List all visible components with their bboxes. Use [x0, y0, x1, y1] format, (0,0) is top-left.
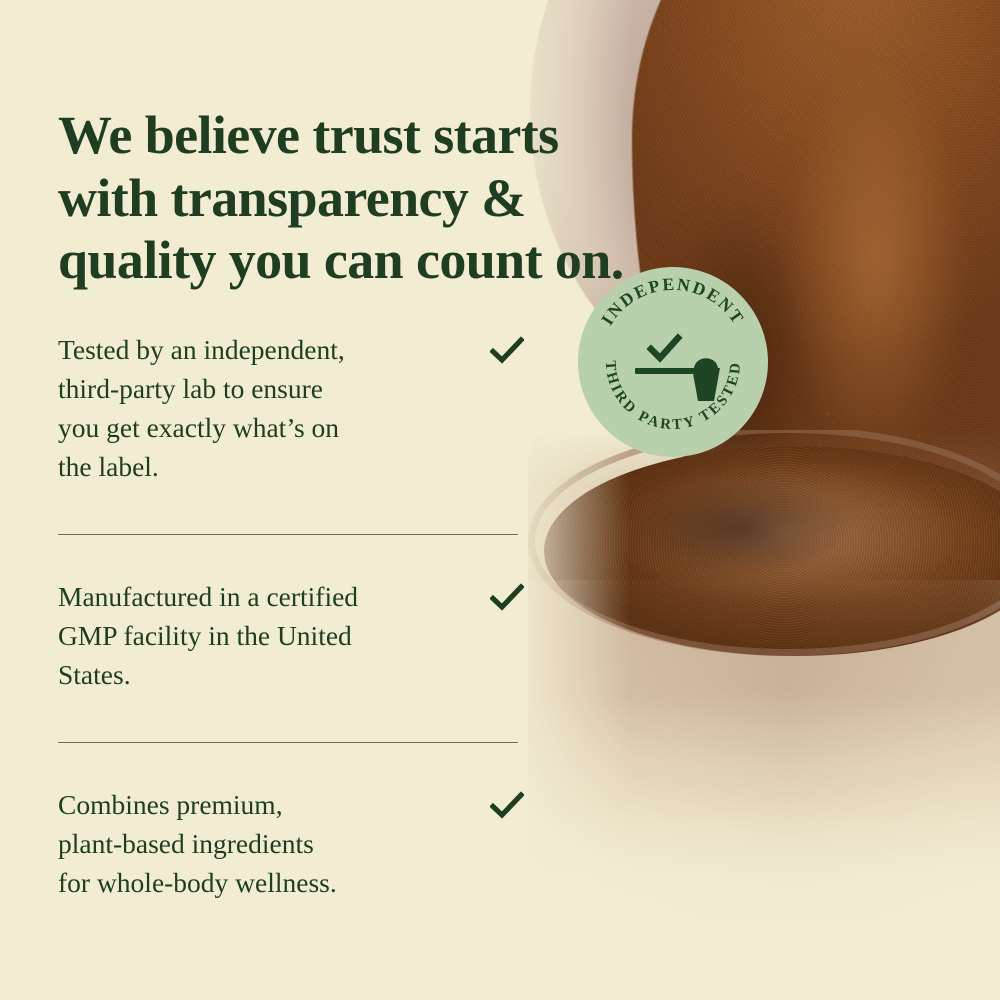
claim-text: Combines premium, plant-based ingredient… [58, 785, 458, 902]
third-party-tested-badge: INDEPENDENT THIRD PARTY TESTED [578, 267, 768, 457]
scoop-handle-icon [635, 368, 693, 374]
spacer [58, 694, 518, 742]
spacer [58, 743, 518, 785]
claim-text: Tested by an independent, third-party la… [58, 330, 458, 486]
claim-text: Manufactured in a certified GMP facility… [58, 577, 458, 694]
check-icon [490, 791, 524, 821]
claim-item-gmp-facility: Manufactured in a certified GMP facility… [58, 577, 518, 694]
claim-item-third-party-tested: Tested by an independent, third-party la… [58, 330, 518, 486]
page-title: We believe trust starts with transparenc… [58, 104, 668, 292]
divider [58, 534, 518, 535]
claim-item-plant-based: Combines premium, plant-based ingredient… [58, 785, 518, 902]
check-icon [490, 583, 524, 613]
spacer [58, 486, 518, 534]
photo-bottom-fade [480, 800, 1000, 1000]
claims-list: Tested by an independent, third-party la… [58, 330, 518, 902]
check-icon [490, 336, 524, 366]
divider [58, 742, 518, 743]
promo-panel: We believe trust starts with transparenc… [0, 0, 1000, 1000]
spacer [58, 535, 518, 577]
